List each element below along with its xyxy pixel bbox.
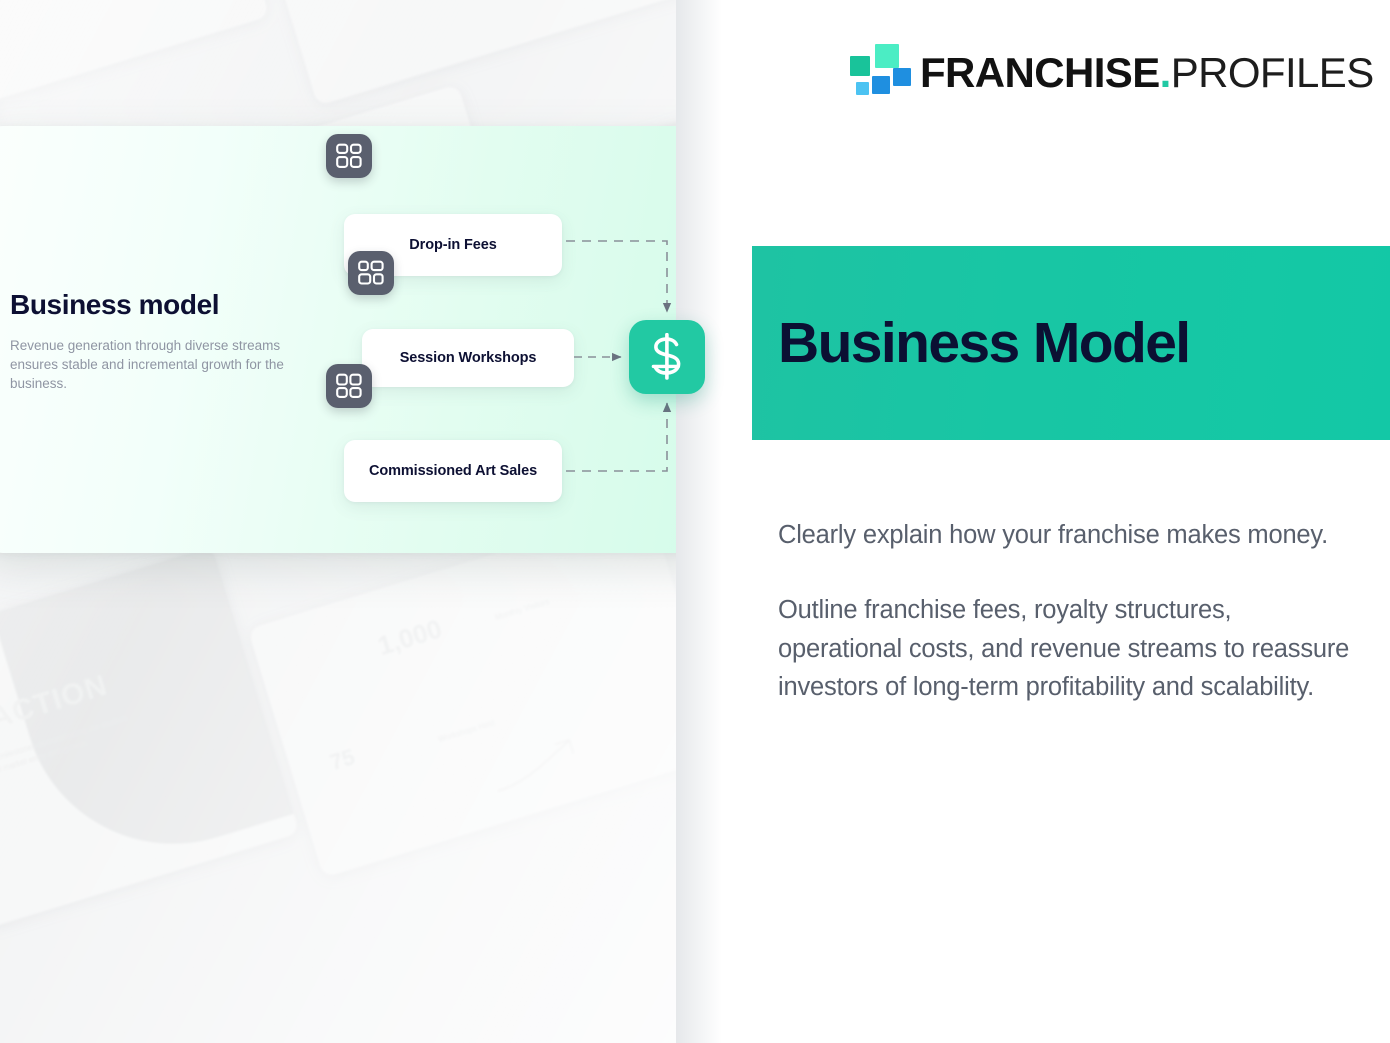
slide-preview-text: Business model Revenue generation throug…	[10, 290, 320, 393]
section-banner: Business Model	[752, 246, 1390, 440]
description-paragraph-2: Outline franchise fees, royalty structur…	[778, 591, 1350, 706]
brand-wordmark: FRANCHISE . PROFILES	[920, 52, 1374, 94]
dollar-sign-icon	[629, 320, 705, 394]
metric-label: Monthly Visitors	[494, 596, 551, 624]
description-paragraph-1: Clearly explain how your franchise makes…	[778, 516, 1350, 554]
grid-dashboard-icon	[348, 251, 394, 295]
backdrop-pill	[0, 0, 200, 14]
franchise-profiles-logo-mark	[850, 44, 904, 102]
page-title: Business Model	[778, 315, 1190, 372]
brand-logo: FRANCHISE . PROFILES	[850, 44, 1374, 102]
arrow-icon	[487, 735, 585, 800]
slide-canvas: MARKET spaces in urban and a substantial…	[0, 0, 1390, 1043]
metric-value: 1,000	[374, 613, 445, 662]
grid-dashboard-icon	[326, 134, 372, 178]
logo-text-dot: .	[1160, 52, 1171, 94]
backdrop-slide-metrics: 1,000 Monthly Visitors 75 Workshops Held	[248, 506, 676, 877]
slide-preview-title: Business model	[10, 290, 320, 321]
logo-text-primary: FRANCHISE	[920, 52, 1160, 94]
right-content-panel: FRANCHISE . PROFILES Business Model Clea…	[676, 0, 1390, 1043]
backdrop-slide-pitchdeck: pitch deck	[0, 0, 269, 121]
slide-preview-subtitle: Revenue generation through diverse strea…	[10, 336, 302, 393]
description-block: Clearly explain how your franchise makes…	[778, 516, 1350, 706]
slide-preview-card: Business model Revenue generation throug…	[0, 126, 746, 553]
backdrop-slide-traction: TRACTION Significant milestones demonstr…	[0, 546, 300, 929]
metric-label: Workshops Held	[437, 717, 496, 746]
logo-text-secondary: PROFILES	[1171, 52, 1374, 94]
metric-value: 75	[327, 744, 358, 776]
revenue-streams-diagram: Drop-in Fees Session Workshops	[312, 126, 746, 553]
grid-dashboard-icon	[326, 364, 372, 408]
